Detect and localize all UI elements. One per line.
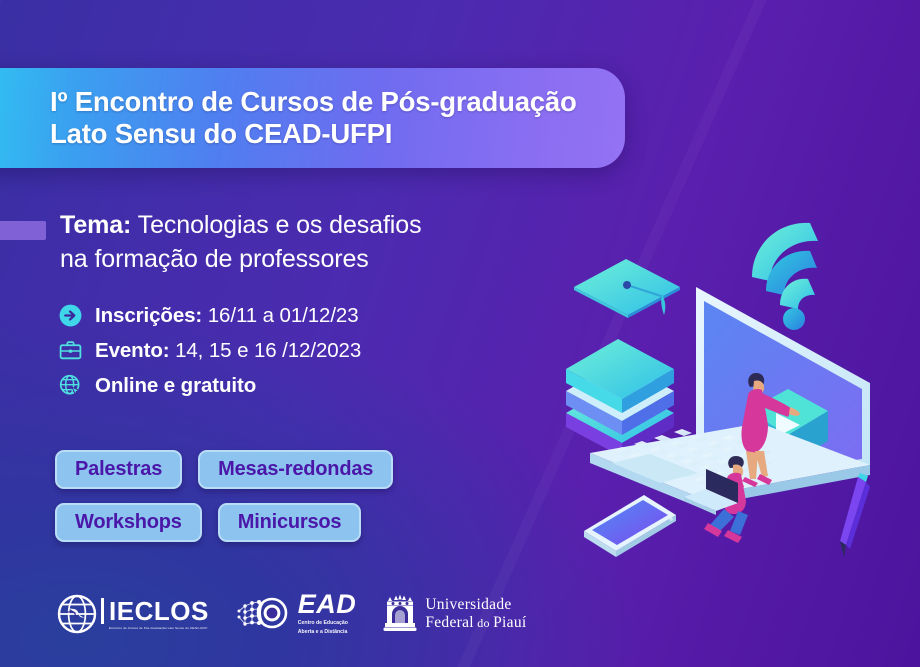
page-title: Iº Encontro de Cursos de Pós-graduação L… <box>50 86 577 151</box>
info-row-inscricoes: Inscrições: 16/11 a 01/12/23 <box>57 300 457 331</box>
theme-text: Tema: Tecnologias e os desafios na forma… <box>60 208 490 276</box>
ufpi-crest-icon <box>382 592 418 636</box>
logo-ufpi-line-2c: Piauí <box>493 614 526 631</box>
logo-ead-subtitle-2: Aberta e a Distância <box>298 629 357 636</box>
tag-minicursos[interactable]: Minicursos <box>218 503 362 542</box>
logo-ufpi-line-2b: do <box>477 616 490 630</box>
ead-network-globe-icon <box>235 593 295 635</box>
logo-ead-subtitle-1: Centro de Educação <box>298 620 357 627</box>
briefcase-icon <box>57 338 83 364</box>
info-label-inscricoes: Inscrições: <box>95 304 202 327</box>
info-label-evento: Evento: <box>95 339 169 362</box>
info-row-evento: Evento: 14, 15 e 16 /12/2023 <box>57 335 457 366</box>
wifi-signal-icon <box>752 223 818 330</box>
tag-palestras[interactable]: Palestras <box>55 450 182 489</box>
logo-ieclos: IECLOS Encontro de Cursos de Pós-Graduaç… <box>55 592 209 636</box>
title-line-1: Iº Encontro de Cursos de Pós-graduação <box>50 86 577 118</box>
tag-row-1: Palestras Mesas-redondas <box>55 450 475 489</box>
tag-row-2: Workshops Minicursos <box>55 503 475 542</box>
graduation-cap-icon <box>574 259 680 318</box>
theme-accent-bar <box>0 221 46 240</box>
logo-ieclos-wordmark: IECLOS Encontro de Cursos de Pós-Graduaç… <box>101 598 209 630</box>
logo-ufpi-line-2a: Federal <box>425 614 474 631</box>
smartphone-icon <box>584 495 676 557</box>
logo-ufpi: Universidade Federal do Piauí <box>382 592 526 636</box>
logo-ead-wordmark: EAD Centro de Educação Aberta e a Distân… <box>298 592 357 636</box>
info-row-online: Online e gratuito <box>57 370 457 401</box>
info-text-evento: Evento: 14, 15 e 16 /12/2023 <box>95 339 361 363</box>
logo-ieclos-subtitle: Encontro de Cursos de Pós-Graduação Lato… <box>101 626 209 630</box>
logo-ufpi-wordmark: Universidade Federal do Piauí <box>425 596 526 632</box>
globe-icon <box>55 592 99 636</box>
title-bar: Iº Encontro de Cursos de Pós-graduação L… <box>0 68 625 168</box>
arrow-circle-right-icon <box>57 303 83 329</box>
isometric-online-education-illustration <box>552 215 920 583</box>
theme-label: Tema: <box>60 211 131 239</box>
tag-grid: Palestras Mesas-redondas Workshops Minic… <box>55 450 475 556</box>
event-banner: Iº Encontro de Cursos de Pós-graduação L… <box>0 0 920 667</box>
logo-row: IECLOS Encontro de Cursos de Pós-Graduaç… <box>55 588 527 640</box>
theme-line-1: Tema: Tecnologias e os desafios <box>60 208 490 242</box>
pen-icon <box>840 473 870 557</box>
theme-value-line-1: Tecnologias e os desafios <box>131 211 421 239</box>
info-value-inscricoes: 16/11 a 01/12/23 <box>202 304 358 327</box>
info-value-evento: 14, 15 e 16 /12/2023 <box>169 339 361 362</box>
info-text-online: Online e gratuito <box>95 374 256 398</box>
logo-ead-name: EAD <box>298 592 357 618</box>
info-list: Inscrições: 16/11 a 01/12/23 Evento: 14,… <box>57 300 457 405</box>
info-text-inscricoes: Inscrições: 16/11 a 01/12/23 <box>95 304 359 328</box>
logo-ead: EAD Centro de Educação Aberta e a Distân… <box>235 592 357 636</box>
logo-ufpi-line-1: Universidade <box>425 596 526 614</box>
theme-line-2: na formação de professores <box>60 242 490 276</box>
logo-ieclos-name: IECLOS <box>101 598 209 624</box>
logo-ufpi-line-2: Federal do Piauí <box>425 614 526 632</box>
globe-cursor-icon <box>57 373 83 399</box>
tag-workshops[interactable]: Workshops <box>55 503 202 542</box>
tag-mesas-redondas[interactable]: Mesas-redondas <box>198 450 393 489</box>
title-line-2: Lato Sensu do CEAD-UFPI <box>50 118 577 150</box>
